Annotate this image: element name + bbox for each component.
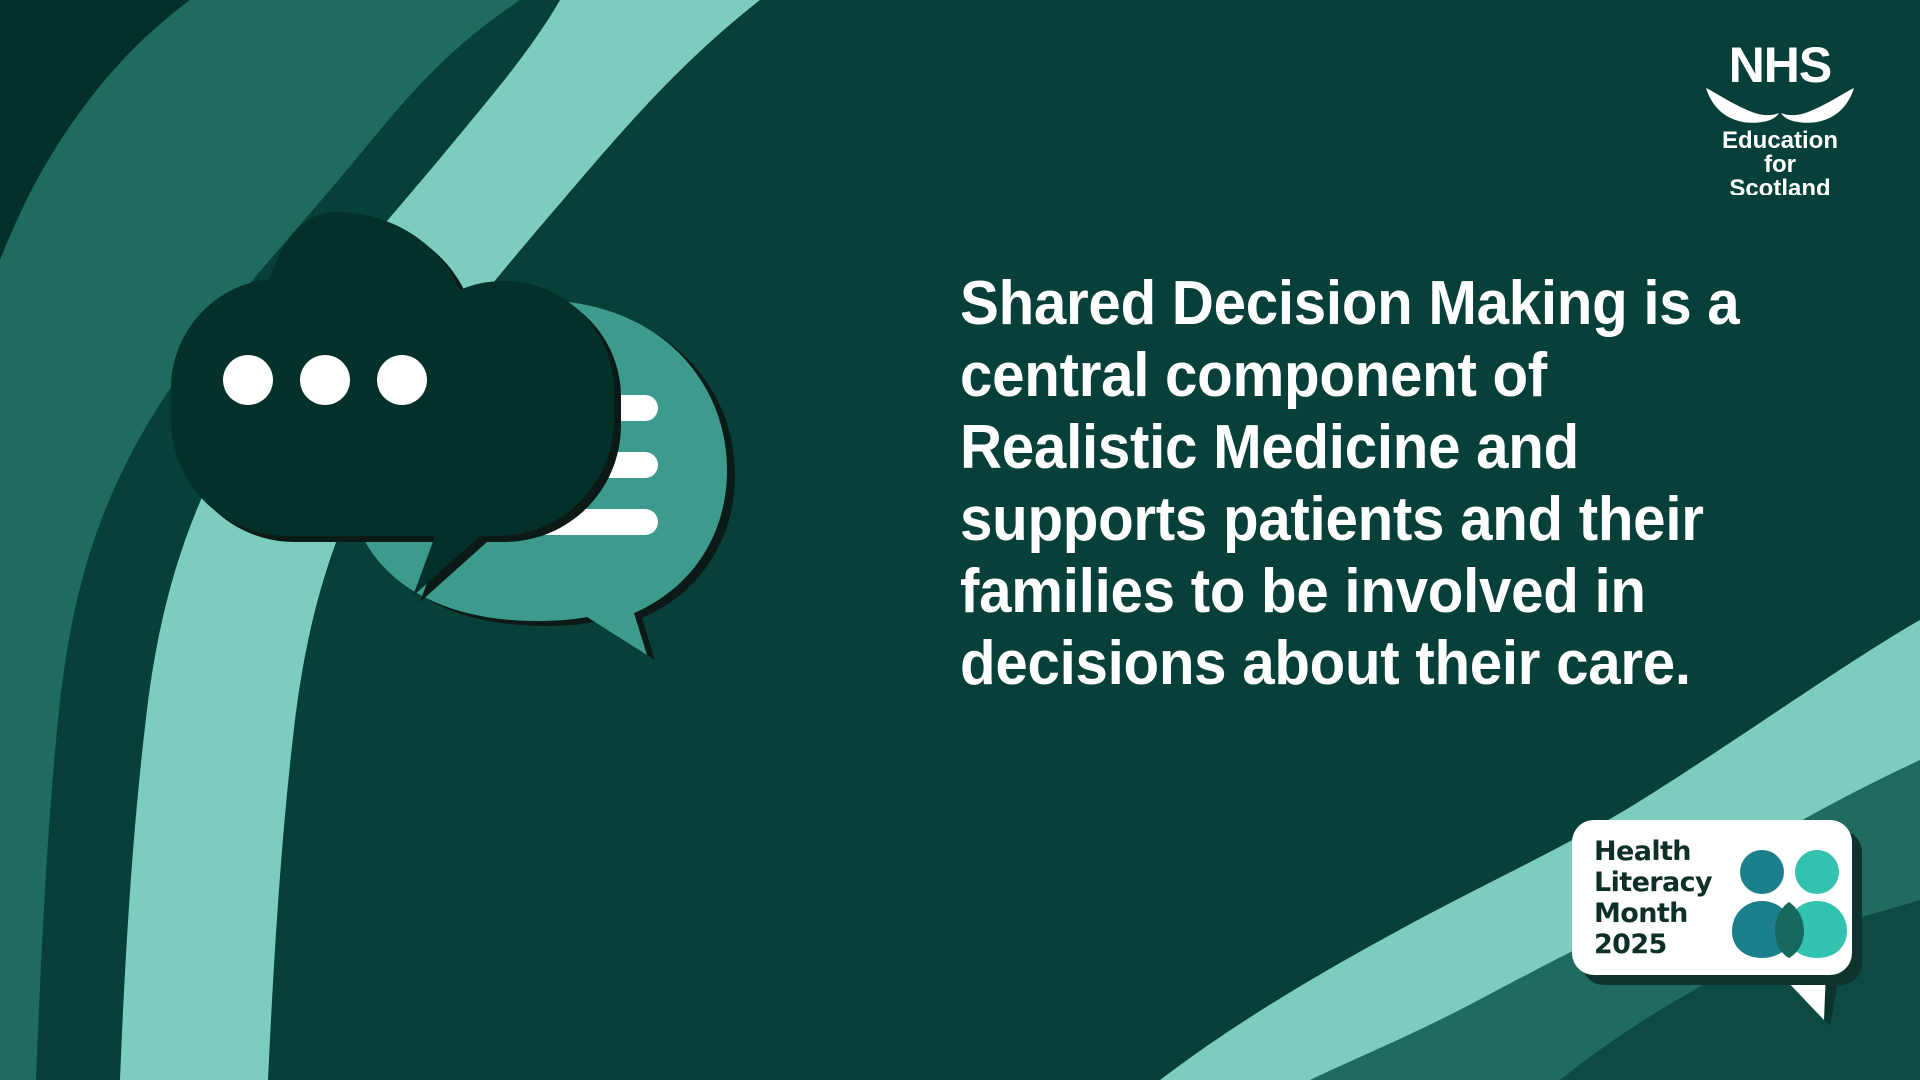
headline-line-2: central component of bbox=[960, 340, 1806, 412]
nhs-wordmark: NHS bbox=[1729, 37, 1832, 93]
dark-bubble-dot-3 bbox=[377, 355, 427, 405]
badge-line-year: 2025 bbox=[1594, 929, 1712, 960]
badge-line-literacy: Literacy bbox=[1594, 867, 1712, 898]
headline-line-1: Shared Decision Making is a bbox=[960, 268, 1806, 340]
nhs-education-label: Education bbox=[1722, 127, 1838, 154]
nhs-for-label: for bbox=[1764, 151, 1796, 178]
headline-line-4: supports patients and their bbox=[960, 484, 1806, 556]
person-right-head-icon bbox=[1795, 850, 1839, 894]
person-left-head-icon bbox=[1740, 850, 1784, 894]
poster-canvas: Shared Decision Making is a central comp… bbox=[0, 0, 1920, 1080]
headline-line-3: Realistic Medicine and bbox=[960, 412, 1806, 484]
two-people-icon bbox=[1732, 848, 1847, 958]
headline-line-6: decisions about their care. bbox=[960, 628, 1806, 700]
headline-text: Shared Decision Making is a central comp… bbox=[960, 268, 1806, 700]
badge-line-month: Month bbox=[1594, 898, 1712, 929]
dark-bubble-dot-1 bbox=[223, 355, 273, 405]
health-literacy-month-badge: Health Literacy Month 2025 bbox=[1572, 820, 1862, 1000]
badge-line-health: Health bbox=[1594, 836, 1712, 867]
headline-line-5: families to be involved in bbox=[960, 556, 1806, 628]
nhs-swoosh-right-icon bbox=[1781, 88, 1854, 123]
nhs-scotland-label: Scotland bbox=[1729, 175, 1830, 195]
nhs-education-for-scotland-logo: NHS Education for Scotland bbox=[1700, 30, 1860, 195]
dark-bubble-dot-2 bbox=[300, 355, 350, 405]
badge-text: Health Literacy Month 2025 bbox=[1594, 836, 1712, 960]
speech-bubbles-illustration bbox=[90, 190, 790, 690]
nhs-swoosh-left-icon bbox=[1706, 88, 1779, 123]
